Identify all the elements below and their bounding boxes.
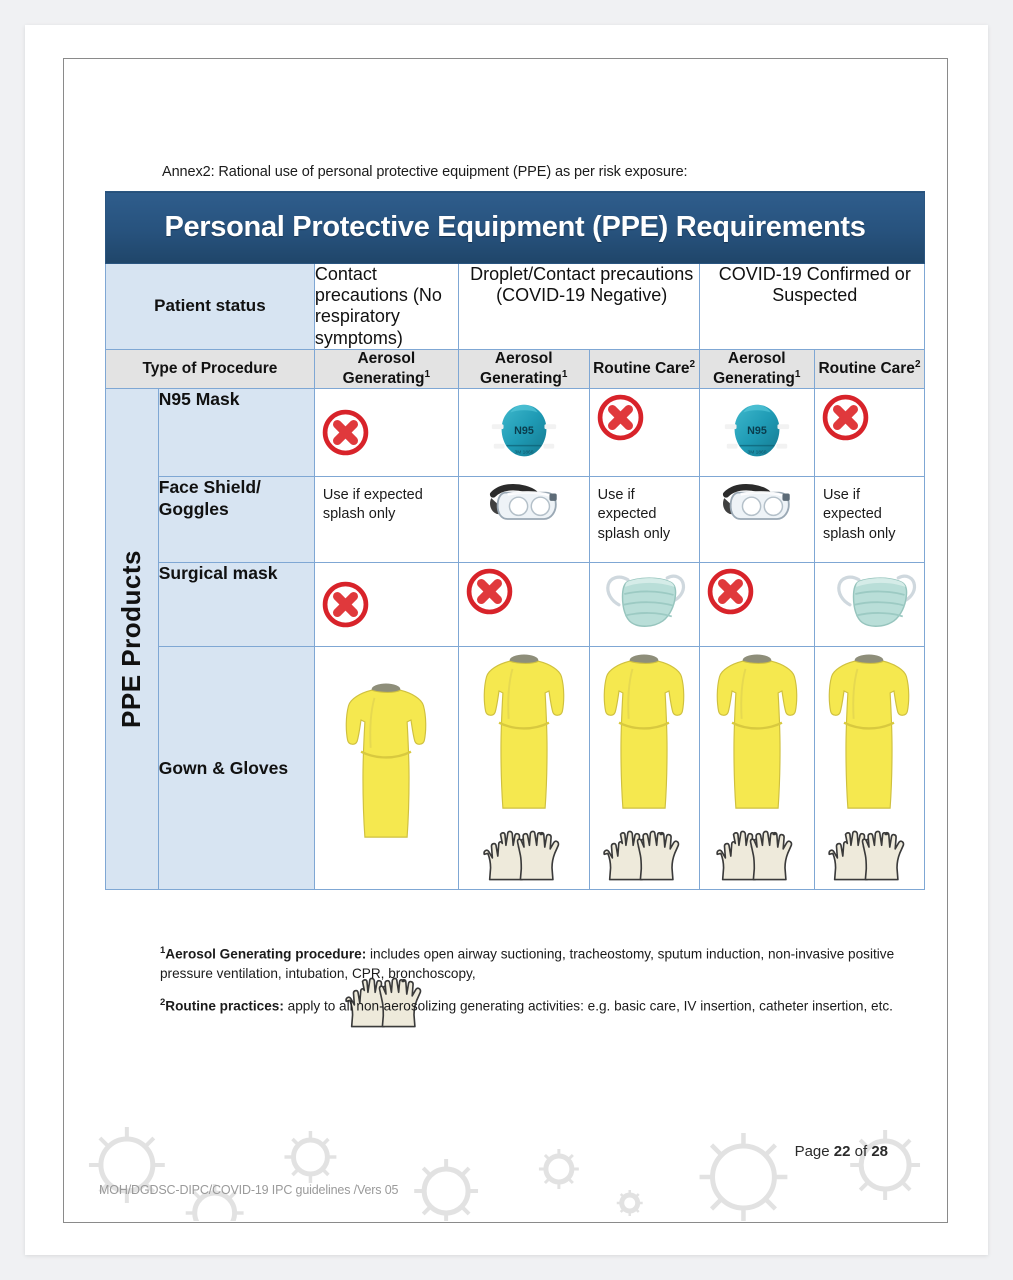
procedure-col-1-label: Aerosol Generating	[480, 350, 562, 387]
gloves-icon	[459, 825, 589, 889]
gloves-icon	[590, 825, 699, 889]
surgical-mask-icon	[815, 563, 924, 643]
procedure-col-4-footnote: 2	[915, 359, 921, 370]
gown-gloves-icon	[590, 647, 699, 831]
svg-text:N95: N95	[747, 425, 767, 437]
gloves-icon	[815, 825, 924, 889]
gown-gloves-icon	[459, 647, 589, 831]
cell-text: Use if expected splash only	[315, 477, 458, 530]
procedure-col-2-label: Routine Care	[593, 360, 689, 377]
cell-goggles-2: Use if expected splash only	[589, 477, 699, 563]
patient-status-label: Patient status	[106, 264, 315, 350]
ppe-requirements-table: Personal Protective Equipment (PPE) Requ…	[105, 191, 925, 890]
side-label-text: PPE Products	[116, 550, 147, 728]
footnotes: 1Aerosol Generating procedure: includes …	[160, 944, 920, 1029]
svg-text:3M 1860: 3M 1860	[514, 450, 533, 456]
page-prefix: Page	[795, 1143, 834, 1160]
cell-goggles-3	[699, 477, 814, 563]
banner-cell: Personal Protective Equipment (PPE) Requ…	[106, 192, 925, 264]
page-total: 28	[871, 1143, 888, 1160]
gown-gloves-icon	[700, 647, 814, 831]
procedure-col-0-label: Aerosol Generating	[343, 350, 425, 387]
procedure-col-1: Aerosol Generating1	[458, 349, 589, 388]
page-number: Page 22 of 28	[795, 1143, 888, 1160]
cell-gown-4	[814, 647, 924, 890]
cell-gown-2	[589, 647, 699, 890]
procedure-col-3-label: Aerosol Generating	[713, 350, 795, 387]
cell-n95-3: N953M 1860	[699, 389, 814, 477]
procedure-col-4-label: Routine Care	[818, 360, 914, 377]
cell-n95-1: N953M 1860	[458, 389, 589, 477]
row-label-surgical-mask: Surgical mask	[158, 563, 314, 647]
gloves-icon	[700, 825, 814, 889]
procedure-col-0: Aerosol Generating1	[314, 349, 458, 388]
n95-mask-icon: N953M 1860	[700, 389, 814, 475]
gown-gloves-icon	[315, 647, 458, 889]
cell-text: Use if expected splash only	[590, 477, 699, 549]
prohibited-icon	[459, 563, 589, 620]
document-frame: Annex2: Rational use of personal protect…	[63, 58, 948, 1223]
cell-surgical-0	[314, 563, 458, 647]
ppe-products-side-label: PPE Products	[106, 389, 159, 890]
page-footer: Page 22 of 28 MOH/DGDSC-DIPC/COVID-19 IP…	[65, 1125, 946, 1221]
procedure-col-2: Routine Care2	[589, 349, 699, 388]
cell-surgical-2	[589, 563, 699, 647]
type-of-procedure-label: Type of Procedure	[106, 349, 315, 388]
footnote-2-term: Routine practices:	[165, 999, 284, 1014]
patient-status-col-contact: Contact precautions (No respiratory symp…	[314, 264, 458, 350]
cell-gown-0	[314, 647, 458, 890]
cell-goggles-0: Use if expected splash only	[314, 477, 458, 563]
prohibited-icon	[700, 563, 814, 620]
gown-gloves-icon	[815, 647, 924, 831]
cell-n95-2	[589, 389, 699, 477]
footnote-1-term: Aerosol Generating procedure:	[165, 947, 366, 962]
procedure-col-3-footnote: 1	[795, 369, 801, 380]
procedure-col-3: Aerosol Generating1	[699, 349, 814, 388]
cell-surgical-4	[814, 563, 924, 647]
page-middle: of	[850, 1143, 871, 1160]
procedure-col-4: Routine Care2	[814, 349, 924, 388]
table-banner-row: Personal Protective Equipment (PPE) Requ…	[106, 192, 925, 264]
procedure-col-2-footnote: 2	[690, 359, 696, 370]
goggles-icon	[459, 477, 589, 541]
prohibited-icon	[815, 389, 924, 446]
page-viewport: Annex2: Rational use of personal protect…	[0, 0, 1013, 1280]
annex-caption: Annex2: Rational use of personal protect…	[162, 164, 687, 180]
svg-text:3M 1860: 3M 1860	[747, 450, 766, 456]
patient-status-col-covid: COVID-19 Confirmed or Suspected	[699, 264, 924, 350]
document-sheet: Annex2: Rational use of personal protect…	[25, 25, 988, 1255]
footnote-1: 1Aerosol Generating procedure: includes …	[160, 944, 920, 983]
svg-text:N95: N95	[514, 425, 534, 437]
cell-goggles-4: Use if expected splash only	[814, 477, 924, 563]
patient-status-col-droplet: Droplet/Contact precautions (COVID-19 Ne…	[458, 264, 699, 350]
patient-status-row: Patient status Contact precautions (No r…	[106, 264, 925, 350]
row-label-face-shield: Face Shield/ Goggles	[158, 477, 314, 563]
cell-goggles-1	[458, 477, 589, 563]
table-row: Face Shield/ Goggles Use if expected spl…	[106, 477, 925, 563]
surgical-mask-icon	[590, 563, 699, 643]
row-label-gown-gloves: Gown & Gloves	[158, 647, 314, 890]
prohibited-icon	[315, 389, 458, 476]
cell-n95-0	[314, 389, 458, 477]
procedure-col-0-footnote: 1	[424, 369, 430, 380]
procedure-col-1-footnote: 1	[562, 369, 568, 380]
banner-title: Personal Protective Equipment (PPE) Requ…	[106, 211, 924, 244]
footnote-2-text: apply to all non-aerosolizing generating…	[284, 999, 893, 1014]
document-reference: MOH/DGDSC-DIPC/COVID-19 IPC guidelines /…	[99, 1183, 398, 1197]
cell-surgical-1	[458, 563, 589, 647]
table-row: PPE Products N95 Mask N953M 1860	[106, 389, 925, 477]
cell-gown-3	[699, 647, 814, 890]
cell-text: Use if expected splash only	[815, 477, 924, 549]
prohibited-icon	[590, 389, 699, 446]
footnote-2: 2Routine practices: apply to all non-aer…	[160, 996, 920, 1016]
table-row: Gown & Gloves	[106, 647, 925, 890]
cell-gown-1	[458, 647, 589, 890]
n95-mask-icon: N953M 1860	[459, 389, 589, 475]
goggles-icon	[700, 477, 814, 541]
cell-n95-4	[814, 389, 924, 477]
coronavirus-watermark-icon	[65, 1125, 946, 1221]
cell-surgical-3	[699, 563, 814, 647]
page-current: 22	[834, 1143, 851, 1160]
prohibited-icon	[315, 563, 458, 646]
table-row: Surgical mask	[106, 563, 925, 647]
procedure-type-row: Type of Procedure Aerosol Generating1 Ae…	[106, 349, 925, 388]
row-label-n95: N95 Mask	[158, 389, 314, 477]
